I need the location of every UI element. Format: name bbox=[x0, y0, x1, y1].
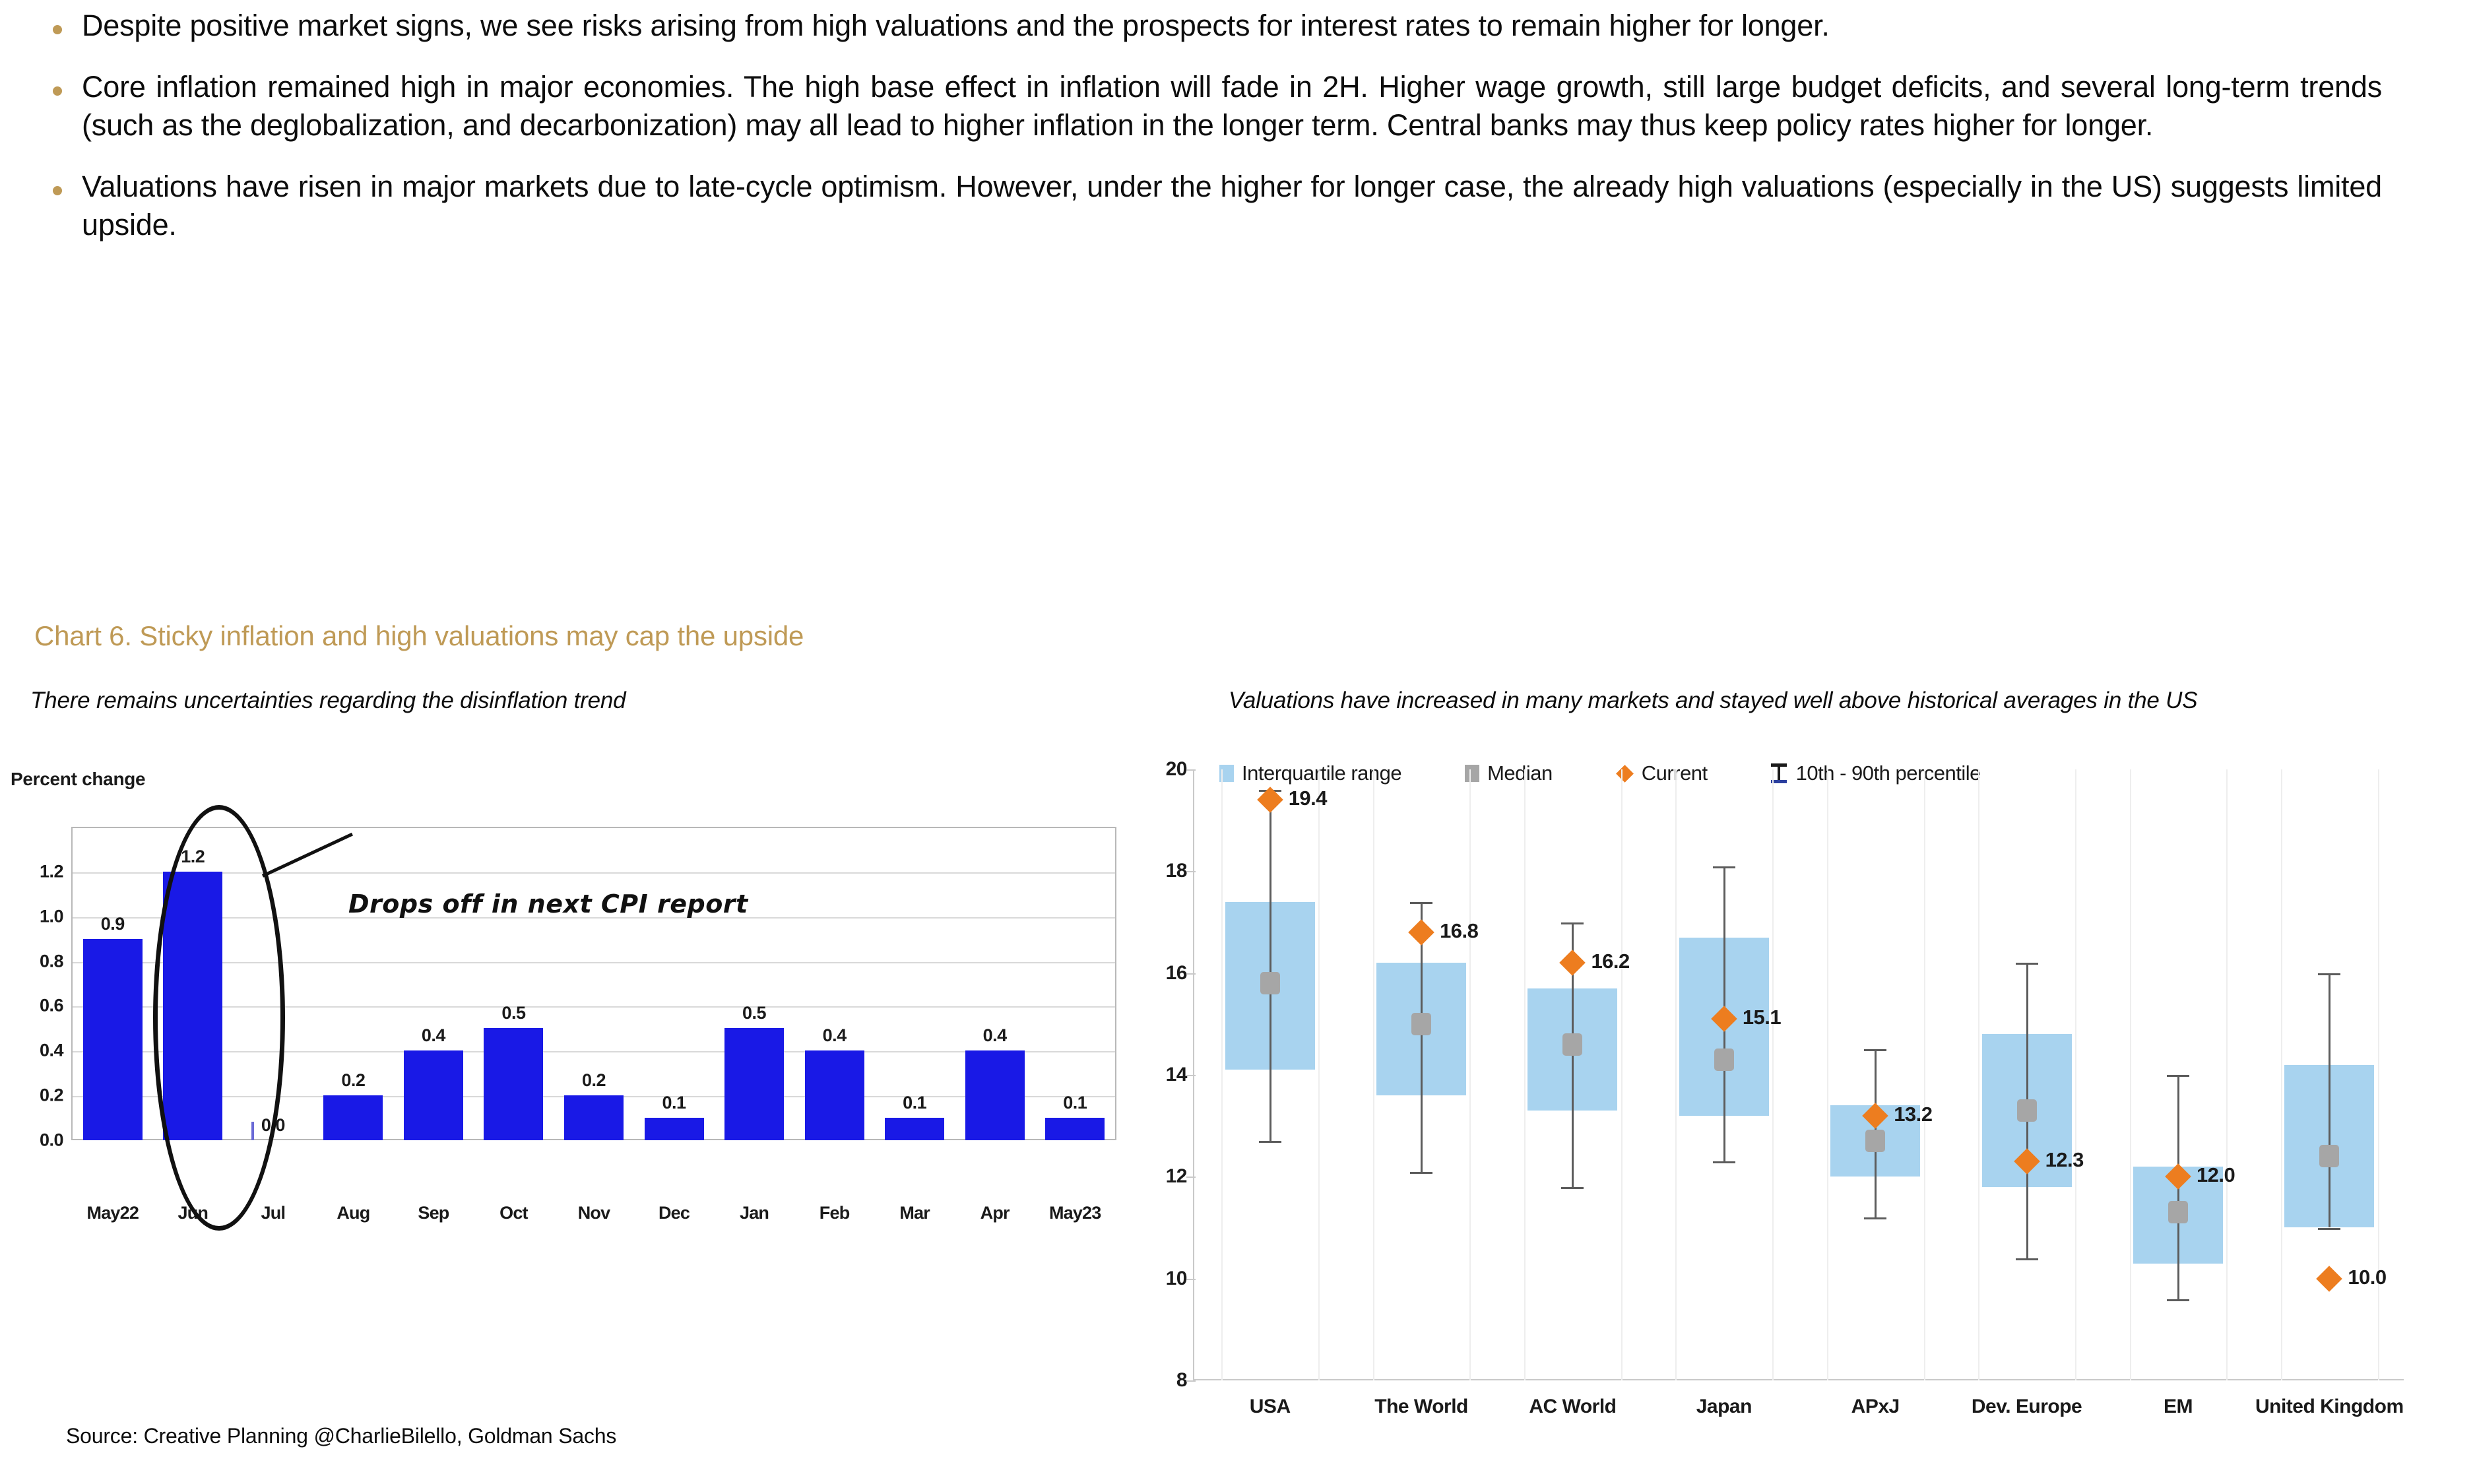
bar bbox=[645, 1118, 704, 1140]
y-axis-tick: 10 bbox=[1166, 1268, 1187, 1290]
chart-heading: Chart 6. Sticky inflation and high valua… bbox=[34, 620, 804, 652]
x-axis-tick: Apr bbox=[952, 1203, 1038, 1223]
y-axis-tickmark bbox=[1186, 1279, 1196, 1280]
bullet-list: Despite positive market signs, we see ri… bbox=[53, 7, 2382, 267]
bar-column: 0.0 bbox=[239, 827, 307, 1140]
x-axis-tick: Dec bbox=[631, 1203, 717, 1223]
current-value-label: 10.0 bbox=[2348, 1266, 2386, 1289]
bar bbox=[805, 1050, 864, 1140]
bar-value-label: 0.4 bbox=[800, 1025, 869, 1046]
x-axis-tick: May23 bbox=[1032, 1203, 1118, 1223]
y-axis-tick: 0.2 bbox=[40, 1085, 63, 1106]
whisker-cap-bottom bbox=[2318, 1228, 2340, 1230]
bar-column: 0.1 bbox=[1041, 827, 1109, 1140]
x-axis-tick: Oct bbox=[470, 1203, 556, 1223]
bar bbox=[724, 1028, 784, 1140]
x-axis-tick: United Kingdom bbox=[2237, 1395, 2422, 1419]
annotation-text: Drops off in next CPI report bbox=[348, 889, 748, 919]
bar bbox=[83, 939, 143, 1140]
bullet-dot-icon bbox=[53, 25, 62, 34]
x-axis-tick: Mar bbox=[872, 1203, 957, 1223]
x-axis-tick: Jul bbox=[230, 1203, 316, 1223]
bar bbox=[1045, 1118, 1105, 1140]
bar bbox=[323, 1095, 383, 1140]
bar-column: 0.5 bbox=[479, 827, 548, 1140]
bar-column: 0.4 bbox=[800, 827, 869, 1140]
bar-value-label: 0.1 bbox=[640, 1093, 709, 1113]
y-axis-tickmark bbox=[1186, 1075, 1196, 1076]
valuation-box-chart: Interquartile rangeMedianCurrent10th - 9… bbox=[1148, 759, 2475, 1419]
bar bbox=[484, 1028, 543, 1140]
bar-column: 0.1 bbox=[640, 827, 709, 1140]
bar-value-label: 0.2 bbox=[560, 1070, 628, 1091]
bar-column: 0.2 bbox=[319, 827, 387, 1140]
bar-value-label: 1.2 bbox=[158, 847, 227, 867]
y-axis-tick: 16 bbox=[1166, 962, 1187, 984]
y-axis-tick: 0.4 bbox=[40, 1041, 63, 1061]
bullet-dot-icon bbox=[53, 86, 62, 96]
y-axis-tick: 0.0 bbox=[40, 1130, 63, 1151]
current-marker bbox=[2317, 1266, 2343, 1292]
bar-value-label: 0.4 bbox=[399, 1025, 468, 1046]
y-axis-tickmark bbox=[1186, 1177, 1196, 1178]
list-item: Despite positive market signs, we see ri… bbox=[53, 7, 2382, 46]
box-whisker-group: 10.0 bbox=[1194, 769, 2405, 1380]
bar bbox=[885, 1118, 944, 1140]
right-chart-subtitle: Valuations have increased in many market… bbox=[1229, 686, 2390, 715]
median-marker bbox=[2319, 1145, 2339, 1167]
whisker-cap-top bbox=[2318, 973, 2340, 975]
bar-value-label: 0.9 bbox=[79, 914, 147, 934]
y-axis-tickmark bbox=[1186, 769, 1196, 771]
bullet-text: Despite positive market signs, we see ri… bbox=[82, 7, 2382, 46]
whisker-line bbox=[2329, 973, 2330, 1228]
cpi-bar-chart: Percent change 0.00.20.40.60.81.01.2 0.9… bbox=[0, 769, 1141, 1330]
x-axis-tick: Feb bbox=[792, 1203, 878, 1223]
box-plot-area: 19.4USA16.8The World16.2AC World15.1Japa… bbox=[1193, 769, 2404, 1380]
x-axis-tick: Jun bbox=[150, 1203, 236, 1223]
list-item: Core inflation remained high in major ec… bbox=[53, 68, 2382, 145]
bar-column: 0.4 bbox=[399, 827, 468, 1140]
x-axis-tick: Aug bbox=[310, 1203, 396, 1223]
bullet-text: Core inflation remained high in major ec… bbox=[82, 68, 2382, 145]
y-axis-tick: 1.0 bbox=[40, 906, 63, 926]
x-axis-tick: Sep bbox=[391, 1203, 476, 1223]
bar-value-label: 0.5 bbox=[720, 1003, 788, 1023]
left-chart-subtitle: There remains uncertainties regarding th… bbox=[30, 686, 1099, 715]
bar-column: 0.9 bbox=[79, 827, 147, 1140]
y-axis-tickmark bbox=[1186, 973, 1196, 975]
bar bbox=[163, 872, 222, 1140]
bar bbox=[564, 1095, 624, 1140]
bar-series: 0.9May221.2Jun0.0Jul0.2Aug0.4Sep0.5Oct0.… bbox=[73, 827, 1115, 1140]
bullet-text: Valuations have risen in major markets d… bbox=[82, 168, 2382, 245]
bar-value-label: 0.1 bbox=[880, 1093, 949, 1113]
y-axis-tick: 14 bbox=[1166, 1064, 1187, 1086]
bar-y-axis: 0.00.20.40.60.81.01.2 bbox=[0, 827, 70, 1142]
x-axis-tick: Jan bbox=[711, 1203, 797, 1223]
y-axis-tick: 12 bbox=[1166, 1165, 1187, 1188]
bar-column: 1.2 bbox=[158, 827, 227, 1140]
x-axis-tick: Nov bbox=[551, 1203, 637, 1223]
y-axis-tick: 18 bbox=[1166, 860, 1187, 882]
y-axis-tick: 20 bbox=[1166, 758, 1187, 781]
bar-value-label: 0.4 bbox=[961, 1025, 1029, 1046]
bar-column: 0.1 bbox=[880, 827, 949, 1140]
bar bbox=[404, 1050, 463, 1140]
bar-column: 0.2 bbox=[560, 827, 628, 1140]
y-axis-tickmark bbox=[1186, 1380, 1196, 1382]
bar-column: 0.5 bbox=[720, 827, 788, 1140]
y-axis-tick: 8 bbox=[1176, 1369, 1187, 1392]
list-item: Valuations have risen in major markets d… bbox=[53, 168, 2382, 245]
bullet-dot-icon bbox=[53, 186, 62, 195]
source-note: Source: Creative Planning @CharlieBilell… bbox=[66, 1424, 616, 1448]
y-axis-tickmark bbox=[1186, 871, 1196, 872]
y-axis-tick: 0.8 bbox=[40, 951, 63, 971]
jul-zero-stem bbox=[251, 1122, 254, 1140]
bar-value-label: 0.1 bbox=[1041, 1093, 1109, 1113]
bar-value-label: 0.2 bbox=[319, 1070, 387, 1091]
x-axis-tick: May22 bbox=[70, 1203, 156, 1223]
y-axis-tick: 1.2 bbox=[40, 861, 63, 882]
y-axis-label: Percent change bbox=[11, 769, 145, 790]
bar-column: 0.4 bbox=[961, 827, 1029, 1140]
bar bbox=[965, 1050, 1025, 1140]
y-axis-tick: 0.6 bbox=[40, 996, 63, 1016]
bar-value-label: 0.0 bbox=[239, 1115, 307, 1136]
bar-value-label: 0.5 bbox=[479, 1003, 548, 1023]
